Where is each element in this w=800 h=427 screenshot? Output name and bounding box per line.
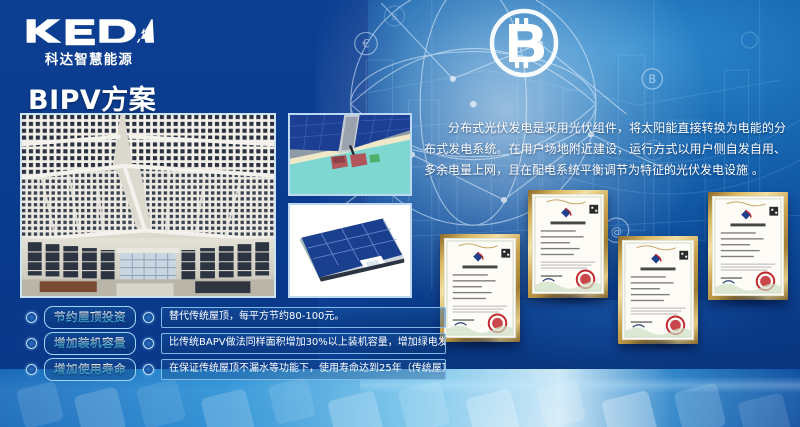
certificate-frame <box>708 192 788 300</box>
bipv-promo-slide: BBB €¥ @@B <box>0 0 800 427</box>
bullet-dot-icon <box>143 312 154 323</box>
patent-certificate-2 <box>528 190 608 298</box>
page-title: BIPV方案 <box>28 78 156 117</box>
bullet-dot-icon <box>26 312 37 323</box>
benefits-list: 节约屋顶投资 替代传统屋顶，每平方节约80-100元。 增加装机容量 比传统BA… <box>26 306 446 384</box>
bipv-skylight-atrium-photo <box>20 113 276 298</box>
certificate-content-icon <box>445 239 515 337</box>
certificate-gallery <box>440 190 800 342</box>
benefit-description-3: 在保证传统屋顶不漏水等功能下，使用寿命达到25年（传统屋顶5-10年左右）。 <box>161 359 446 380</box>
certificate-paper <box>622 240 694 340</box>
pv-mounting-detail-render <box>288 113 412 196</box>
certificate-paper <box>444 238 516 338</box>
certificate-content-icon <box>533 195 603 293</box>
benefit-label-text: 增加装机容量 <box>54 336 126 350</box>
benefit-row-2: 增加装机容量 比传统BAPV做法同样面积增加30%以上装机容量，增加绿电发电量。 <box>26 332 446 355</box>
benefit-row-1: 节约屋顶投资 替代传统屋顶，每平方节约80-100元。 <box>26 306 446 329</box>
brand-logo-cn: 科达智慧能源 <box>24 48 154 68</box>
patent-certificate-1 <box>440 234 520 342</box>
benefit-label-3: 增加使用寿命 <box>44 358 136 381</box>
patent-certificate-4 <box>708 192 788 300</box>
bullet-dot-icon <box>26 338 37 349</box>
certificate-frame <box>618 236 698 344</box>
pv-mounting-illustration-icon <box>290 115 410 194</box>
bullet-dot-icon <box>26 364 37 375</box>
benefit-label-2: 增加装机容量 <box>44 332 136 355</box>
atrium-illustration-icon <box>22 115 274 296</box>
certificate-paper <box>532 194 604 294</box>
pv-panel-array-render <box>288 203 412 298</box>
bullet-dot-icon <box>143 338 154 349</box>
certificate-content-icon <box>623 241 693 339</box>
certificate-frame <box>528 190 608 298</box>
benefit-label-1: 节约屋顶投资 <box>44 306 136 329</box>
pv-array-illustration-icon <box>290 205 410 296</box>
certificate-frame <box>440 234 520 342</box>
keda-wordmark-icon <box>24 16 154 46</box>
benefit-description-2: 比传统BAPV做法同样面积增加30%以上装机容量，增加绿电发电量。 <box>161 333 446 354</box>
brand-logo: 科达智慧能源 <box>24 16 154 68</box>
intro-paragraph: 分布式光伏发电是采用光伏组件，将太阳能直接转换为电能的分布式发电系统。在用户场地… <box>424 118 786 181</box>
benefit-row-3: 增加使用寿命 在保证传统屋顶不漏水等功能下，使用寿命达到25年（传统屋顶5-10… <box>26 358 446 381</box>
bullet-dot-icon <box>143 364 154 375</box>
bitcoin-circle-icon <box>487 6 561 80</box>
benefit-description-1: 替代传统屋顶，每平方节约80-100元。 <box>161 307 446 328</box>
benefit-label-text: 节约屋顶投资 <box>54 310 126 324</box>
patent-certificate-3 <box>618 236 698 344</box>
certificate-content-icon <box>713 197 783 295</box>
certificate-paper <box>712 196 784 296</box>
benefit-label-text: 增加使用寿命 <box>54 362 126 376</box>
